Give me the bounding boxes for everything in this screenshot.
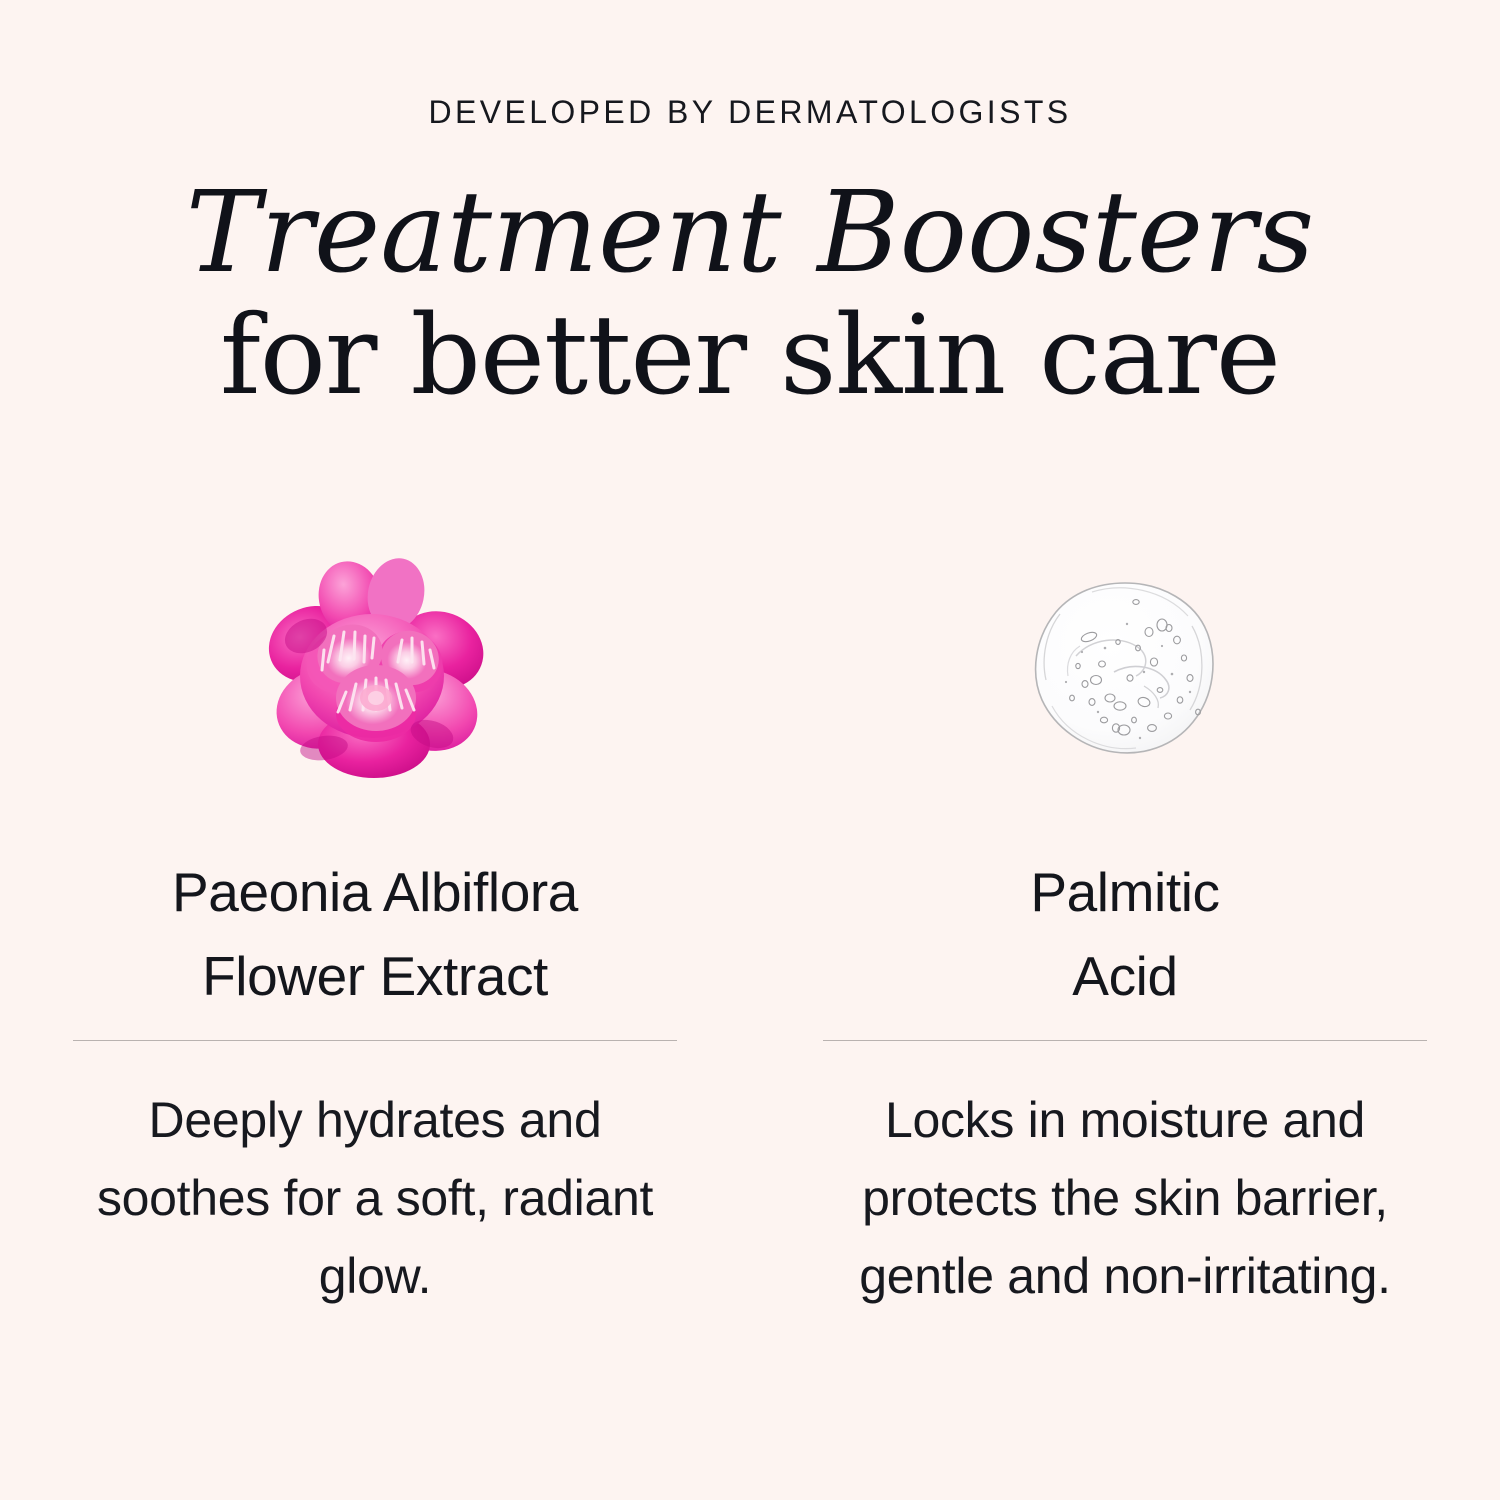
ingredient-columns: Paeonia Albiflora Flower Extract Deeply … <box>0 530 1500 1315</box>
product-ingredient-panel: DEVELOPED BY DERMATOLOGISTS Treatment Bo… <box>0 0 1500 1500</box>
page-title: Treatment Boosters for better skin care <box>0 172 1500 416</box>
ingredient-description-paeonia: Deeply hydrates and soothes for a soft, … <box>65 1081 685 1315</box>
ingredient-name-line-1: Paeonia Albiflora <box>172 850 578 934</box>
eyebrow-text: DEVELOPED BY DERMATOLOGISTS <box>0 96 1500 128</box>
card-divider <box>823 1040 1427 1041</box>
ingredient-card-paeonia: Paeonia Albiflora Flower Extract Deeply … <box>0 530 750 1315</box>
page-title-line-2: for better skin care <box>0 294 1500 416</box>
ingredient-name-line-2: Acid <box>1030 934 1219 1018</box>
ingredient-image-paeonia <box>225 530 525 780</box>
gel-droplet-icon <box>1032 580 1218 756</box>
ingredient-name-paeonia: Paeonia Albiflora Flower Extract <box>172 850 578 1018</box>
peony-flower-icon <box>264 558 486 780</box>
ingredient-name-line-2: Flower Extract <box>172 934 578 1018</box>
ingredient-card-palmitic: Palmitic Acid Locks in moisture and prot… <box>750 530 1500 1315</box>
ingredient-image-palmitic <box>975 530 1275 780</box>
ingredient-name-line-1: Palmitic <box>1030 850 1219 934</box>
ingredient-description-palmitic: Locks in moisture and protects the skin … <box>815 1081 1435 1315</box>
ingredient-name-palmitic: Palmitic Acid <box>1030 850 1219 1018</box>
card-divider <box>73 1040 677 1041</box>
page-title-line-1: Treatment Boosters <box>0 172 1500 294</box>
